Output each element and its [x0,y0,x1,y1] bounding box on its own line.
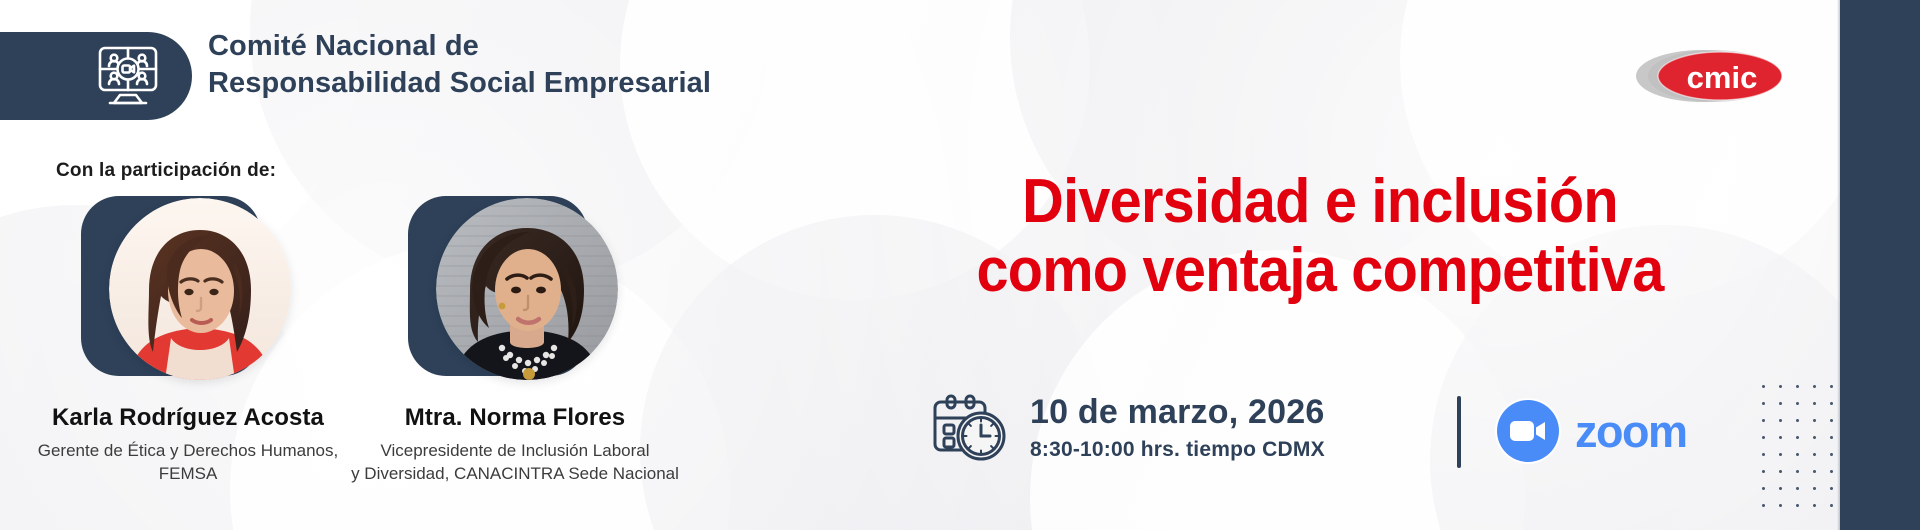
speaker-role-line2: y Diversidad, CANACINTRA Sede Nacional [351,464,679,483]
speaker-photo-frame-2 [408,196,622,382]
cmic-logo-text: cmic [1687,60,1758,95]
speaker-photo-karla-rodriguez-acosta [109,198,291,380]
event-title-line1: Diversidad e inclusión [874,168,1767,237]
participation-label: Con la participación de: [56,160,276,182]
organization-title: Comité Nacional de Responsabilidad Socia… [208,28,711,102]
dot-grid-decoration [1755,378,1837,513]
calendar-clock-icon [930,392,1006,464]
speaker-role: Gerente de Ética y Derechos Humanos, FEM… [18,439,358,486]
zoom-logo: zoom [1497,400,1687,462]
organization-title-line1: Comité Nacional de [208,30,479,62]
event-time: 8:30-10:00 hrs. tiempo CDMX [1030,438,1325,462]
speaker-role-line1: Gerente de Ética y Derechos Humanos, [38,441,338,460]
speaker-card-1: Karla Rodríguez Acosta Gerente de Ética … [18,196,358,486]
speaker-role-line1: Vicepresidente de Inclusión Laboral [380,441,649,460]
webinar-banner: Comité Nacional de Responsabilidad Socia… [0,0,1920,530]
zoom-wordmark: zoom [1575,409,1687,454]
event-title: Diversidad e inclusión como ventaja comp… [874,168,1767,306]
event-datetime: 10 de marzo, 2026 8:30-10:00 hrs. tiempo… [930,392,1325,464]
event-title-line2: como ventaja competitiva [874,237,1767,306]
organization-title-line2: Responsabilidad Social Empresarial [208,65,711,102]
vertical-divider [1457,396,1461,468]
zoom-camera-icon [1497,400,1559,462]
speaker-card-2: Mtra. Norma Flores Vicepresidente de Inc… [345,196,685,486]
speaker-role: Vicepresidente de Inclusión Laboral y Di… [345,439,685,486]
speaker-role-line2: FEMSA [159,464,218,483]
speaker-photo-frame-1 [81,196,295,382]
speaker-name: Karla Rodríguez Acosta [18,404,358,432]
cmic-logo: cmic [1632,46,1792,106]
right-navy-rail [1840,0,1920,530]
header-badge [0,32,192,120]
speaker-name: Mtra. Norma Flores [345,404,685,432]
event-date: 10 de marzo, 2026 [1030,394,1325,431]
video-conference-screen-icon [90,43,166,109]
speaker-photo-norma-flores [436,198,618,380]
